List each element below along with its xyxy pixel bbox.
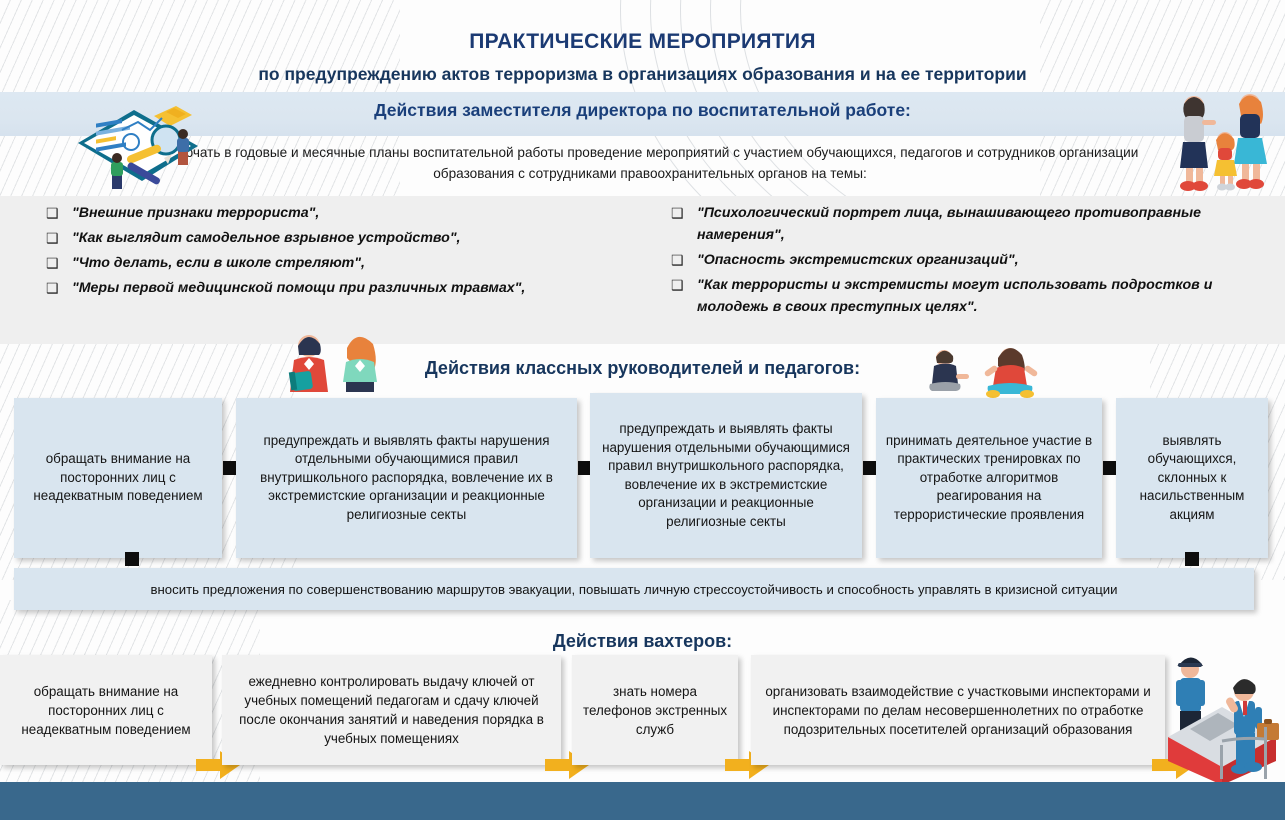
bullet-text: "Как террористы и экстремисты могут испо… (697, 274, 1265, 318)
bullet-marker-icon: ❑ (665, 202, 697, 224)
teacher-action-card-5: выявлять обучающихся, склонных к насильс… (1116, 398, 1268, 558)
two-women-and-child-illustration (1168, 88, 1278, 192)
teachers-section-heading: Действия классных руководителей и педаго… (0, 358, 1285, 379)
bullet-marker-icon: ❑ (40, 252, 72, 274)
infographic-page: ПРАКТИЧЕСКИЕ МЕРОПРИЯТИЯ по предупрежден… (0, 0, 1285, 820)
card-connector-down-left (125, 552, 139, 566)
bullet-marker-icon: ❑ (665, 249, 697, 271)
deputy-intro-text: включать в годовые и месячные планы восп… (150, 142, 1150, 184)
bullet-marker-icon: ❑ (665, 274, 697, 296)
bullet-item: ❑ "Психологический портрет лица, вынашив… (665, 202, 1265, 246)
teacher-action-wide-card: вносить предложения по совершенствованию… (14, 568, 1254, 610)
bullet-item: ❑ "Что делать, если в школе стреляют", (40, 252, 650, 274)
teacher-action-card-3: предупреждать и выявлять факты нарушения… (590, 393, 862, 558)
guard-action-card-4: организовать взаимодействие с участковым… (751, 655, 1165, 765)
teacher-action-card-4: принимать деятельное участие в практичес… (876, 398, 1102, 558)
card-connector-down-right (1185, 552, 1199, 566)
guard-action-card-1: обращать внимание на посторонних лиц с н… (0, 655, 212, 765)
bullet-marker-icon: ❑ (40, 227, 72, 249)
card-connector (1103, 461, 1117, 475)
bullet-item: ❑ "Внешние признаки террориста", (40, 202, 650, 224)
security-guard-checkpoint-illustration (1160, 645, 1285, 785)
bullet-text: "Как выглядит самодельное взрывное устро… (72, 227, 650, 249)
page-title: ПРАКТИЧЕСКИЕ МЕРОПРИЯТИЯ (0, 30, 1285, 54)
guard-action-card-2: ежедневно контролировать выдачу ключей о… (222, 655, 561, 765)
teacher-action-card-2: предупреждать и выявлять факты нарушения… (236, 398, 577, 558)
bullets-column-right: ❑ "Психологический портрет лица, вынашив… (665, 202, 1265, 321)
page-subtitle: по предупреждению актов терроризма в орг… (0, 64, 1285, 85)
footer-bar (0, 782, 1285, 820)
bullet-item: ❑ "Как террористы и экстремисты могут ис… (665, 274, 1265, 318)
bullet-text: "Внешние признаки террориста", (72, 202, 650, 224)
bullet-item: ❑ "Меры первой медицинской помощи при ра… (40, 277, 650, 299)
bullet-item: ❑ "Опасность экстремистских организаций"… (665, 249, 1265, 271)
bullet-text: "Что делать, если в школе стреляют", (72, 252, 650, 274)
bullet-text: "Меры первой медицинской помощи при разл… (72, 277, 650, 299)
guards-section-heading: Действия вахтеров: (0, 631, 1285, 652)
bullet-text: "Опасность экстремистских организаций", (697, 249, 1265, 271)
bullet-text: "Психологический портрет лица, вынашиваю… (697, 202, 1265, 246)
guard-action-card-3: знать номера телефонов экстренных служб (572, 655, 738, 765)
bullet-marker-icon: ❑ (40, 202, 72, 224)
bullet-marker-icon: ❑ (40, 277, 72, 299)
clipboard-report-illustration (26, 88, 206, 193)
teacher-action-card-1: обращать внимание на посторонних лиц с н… (14, 398, 222, 558)
bullet-item: ❑ "Как выглядит самодельное взрывное уст… (40, 227, 650, 249)
card-connector (223, 461, 237, 475)
card-connector (863, 461, 877, 475)
bullets-column-left: ❑ "Внешние признаки террориста", ❑ "Как … (40, 202, 650, 302)
